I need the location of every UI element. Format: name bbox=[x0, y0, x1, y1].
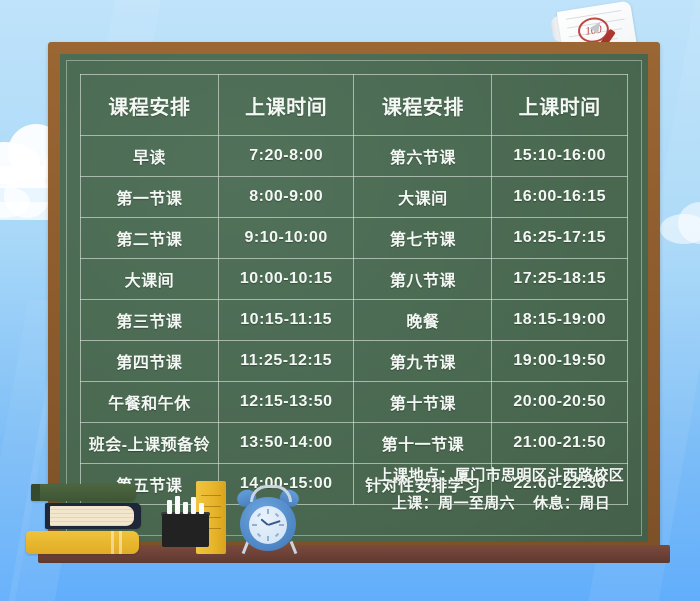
footer-location-line: 上课地点：厦门市思明区斗西路校区 bbox=[378, 464, 624, 485]
footer-location-label: 上课地点： bbox=[378, 467, 455, 484]
footer-rest-day-value: 周日 bbox=[579, 495, 610, 512]
footer-days-line: 上课：周一至周六休息：周日 bbox=[392, 492, 610, 513]
chalk-box-icon bbox=[162, 514, 209, 547]
course-time-cell: 18:15-19:00 bbox=[492, 300, 628, 341]
chalk-stick bbox=[191, 497, 196, 514]
yellow-book-icon bbox=[26, 531, 139, 554]
footer-rest-day-label: 休息： bbox=[533, 495, 579, 512]
course-time-cell: 17:25-18:15 bbox=[492, 259, 628, 300]
chalk-stick bbox=[167, 500, 172, 514]
course-time-cell: 10:00-10:15 bbox=[218, 259, 354, 300]
schedule-footer-note: 上课地点：厦门市思明区斗西路校区 上课：周一至周六休息：周日 bbox=[354, 452, 648, 524]
table-header-row: 课程安排 上课时间 课程安排 上课时间 bbox=[81, 75, 628, 136]
course-name-cell: 第九节课 bbox=[354, 341, 492, 382]
course-time-cell: 11:25-12:15 bbox=[218, 341, 354, 382]
header-time-right: 上课时间 bbox=[492, 75, 628, 136]
header-time-left: 上课时间 bbox=[218, 75, 354, 136]
chalk-stick bbox=[199, 503, 204, 514]
table-row: 第三节课 10:15-11:15 晚餐 18:15-19:00 bbox=[81, 300, 628, 341]
course-name-cell: 早读 bbox=[81, 136, 219, 177]
course-time-cell: 12:15-13:50 bbox=[218, 382, 354, 423]
course-time-cell: 16:25-17:15 bbox=[492, 218, 628, 259]
chalk-stick bbox=[183, 502, 188, 514]
course-name-cell: 班会-上课预备铃 bbox=[81, 423, 219, 464]
footer-class-days-value: 周一至周六 bbox=[438, 495, 515, 512]
footer-class-days-label: 上课： bbox=[392, 495, 438, 512]
course-name-cell: 第七节课 bbox=[354, 218, 492, 259]
course-name-cell: 第八节课 bbox=[354, 259, 492, 300]
course-name-cell: 第六节课 bbox=[354, 136, 492, 177]
course-time-cell: 16:00-16:15 bbox=[492, 177, 628, 218]
stacked-books-icon bbox=[31, 484, 136, 501]
course-name-cell: 晚餐 bbox=[354, 300, 492, 341]
poster-canvas: 100 课程安排 上课时间 课程安排 上课时间 bbox=[0, 0, 700, 601]
course-name-cell: 第三节课 bbox=[81, 300, 219, 341]
table-row: 第四节课 11:25-12:15 第九节课 19:00-19:50 bbox=[81, 341, 628, 382]
course-time-cell: 10:15-11:15 bbox=[218, 300, 354, 341]
schedule-table-body: 早读 7:20-8:00 第六节课 15:10-16:00 第一节课 8:00-… bbox=[81, 136, 628, 505]
course-time-cell: 9:10-10:00 bbox=[218, 218, 354, 259]
course-time-cell: 20:00-20:50 bbox=[492, 382, 628, 423]
blackboard-frame: 课程安排 上课时间 课程安排 上课时间 早读 7:20-8:00 第六节课 15… bbox=[48, 42, 660, 554]
chalk-stick bbox=[175, 496, 180, 514]
footer-location-value: 厦门市思明区斗西路校区 bbox=[455, 467, 624, 484]
book-band bbox=[111, 531, 114, 554]
course-name-cell: 午餐和午休 bbox=[81, 382, 219, 423]
book-pages bbox=[50, 506, 134, 526]
course-time-cell: 15:10-16:00 bbox=[492, 136, 628, 177]
table-row: 大课间 10:00-10:15 第八节课 17:25-18:15 bbox=[81, 259, 628, 300]
course-name-cell: 大课间 bbox=[354, 177, 492, 218]
table-row: 早读 7:20-8:00 第六节课 15:10-16:00 bbox=[81, 136, 628, 177]
alarm-clock-face bbox=[249, 506, 287, 544]
table-row: 第一节课 8:00-9:00 大课间 16:00-16:15 bbox=[81, 177, 628, 218]
course-time-cell: 8:00-9:00 bbox=[218, 177, 354, 218]
course-name-cell: 第十节课 bbox=[354, 382, 492, 423]
course-name-cell: 大课间 bbox=[81, 259, 219, 300]
header-course-left: 课程安排 bbox=[81, 75, 219, 136]
book-spine bbox=[31, 484, 40, 501]
blackboard-surface: 课程安排 上课时间 课程安排 上课时间 早读 7:20-8:00 第六节课 15… bbox=[60, 54, 648, 542]
book-band bbox=[119, 531, 122, 554]
course-name-cell: 第二节课 bbox=[81, 218, 219, 259]
table-row: 第二节课 9:10-10:00 第七节课 16:25-17:15 bbox=[81, 218, 628, 259]
course-time-cell: 13:50-14:00 bbox=[218, 423, 354, 464]
course-time-cell: 7:20-8:00 bbox=[218, 136, 354, 177]
course-name-cell: 第一节课 bbox=[81, 177, 219, 218]
clock-hour-hand bbox=[260, 518, 268, 525]
course-name-cell: 第四节课 bbox=[81, 341, 219, 382]
table-row: 午餐和午休 12:15-13:50 第十节课 20:00-20:50 bbox=[81, 382, 628, 423]
course-time-cell: 19:00-19:50 bbox=[492, 341, 628, 382]
class-schedule-table: 课程安排 上课时间 课程安排 上课时间 早读 7:20-8:00 第六节课 15… bbox=[80, 74, 628, 505]
header-course-right: 课程安排 bbox=[354, 75, 492, 136]
